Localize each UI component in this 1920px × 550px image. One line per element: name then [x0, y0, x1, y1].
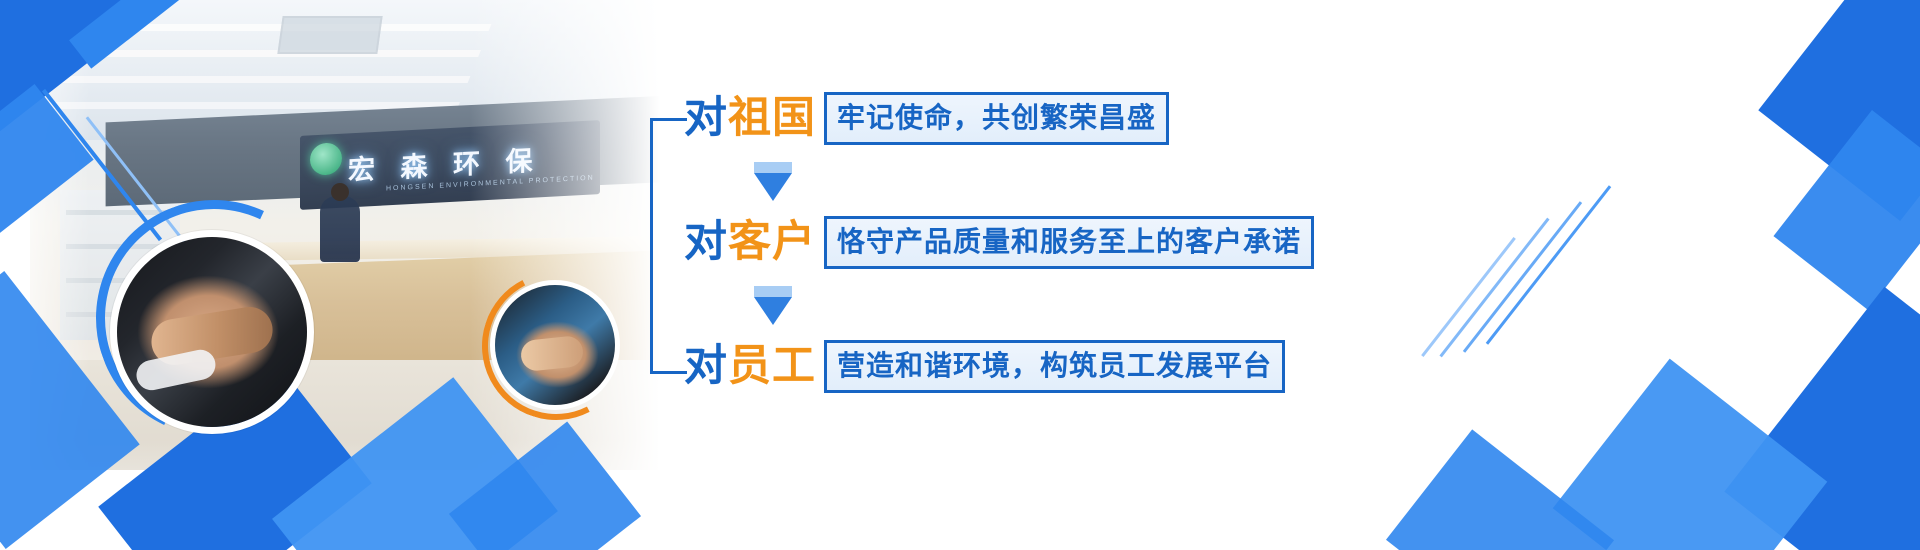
value-lead-customer: 对客户 [684, 221, 816, 264]
value-row-country: 对祖国 牢记使命，共创繁荣昌盛 [684, 90, 1169, 146]
value-statement-employee: 营造和谐环境，构筑员工发展平台 [824, 340, 1285, 393]
company-values-banner: 宏 森 环 保 HONGSEN ENVIRONMENTAL PROTECTION… [0, 0, 1920, 550]
down-arrow-icon-2 [754, 286, 792, 325]
value-lead-country: 对祖国 [684, 97, 816, 140]
handshake-circle-blue [110, 230, 314, 434]
value-row-employee: 对员工 营造和谐环境，构筑员工发展平台 [684, 338, 1285, 394]
handshake-photo-a [117, 237, 307, 427]
handshake-circle-orange [490, 280, 620, 410]
down-arrow-triangle-1 [754, 173, 792, 201]
value-prefix-employee: 对 [684, 342, 728, 390]
value-lead-employee: 对员工 [684, 345, 816, 388]
down-arrow-icon-1 [754, 162, 792, 201]
value-row-customer: 对客户 恪守产品质量和服务至上的客户承诺 [684, 214, 1314, 270]
value-keyword-employee: 员工 [728, 342, 816, 390]
values-list: 对祖国 牢记使命，共创繁荣昌盛 对客户 恪守产品质量和服务至上的客户承诺 对员工… [650, 70, 1350, 400]
value-prefix-customer: 对 [684, 218, 728, 266]
down-arrow-bar-2 [754, 286, 792, 297]
down-arrow-triangle-2 [754, 297, 792, 325]
value-keyword-customer: 客户 [728, 218, 816, 266]
decor-line-right-1 [1486, 185, 1611, 344]
value-statement-customer: 恪守产品质量和服务至上的客户承诺 [824, 216, 1314, 269]
handshake-photo-b [495, 285, 615, 405]
value-prefix-country: 对 [684, 94, 728, 142]
decor-shape-right-4 [1553, 359, 1828, 550]
down-arrow-bar-1 [754, 162, 792, 173]
value-statement-country: 牢记使命，共创繁荣昌盛 [824, 92, 1169, 145]
decor-line-right-4 [1421, 237, 1516, 357]
bracket-connector [650, 118, 687, 374]
value-keyword-country: 祖国 [728, 94, 816, 142]
